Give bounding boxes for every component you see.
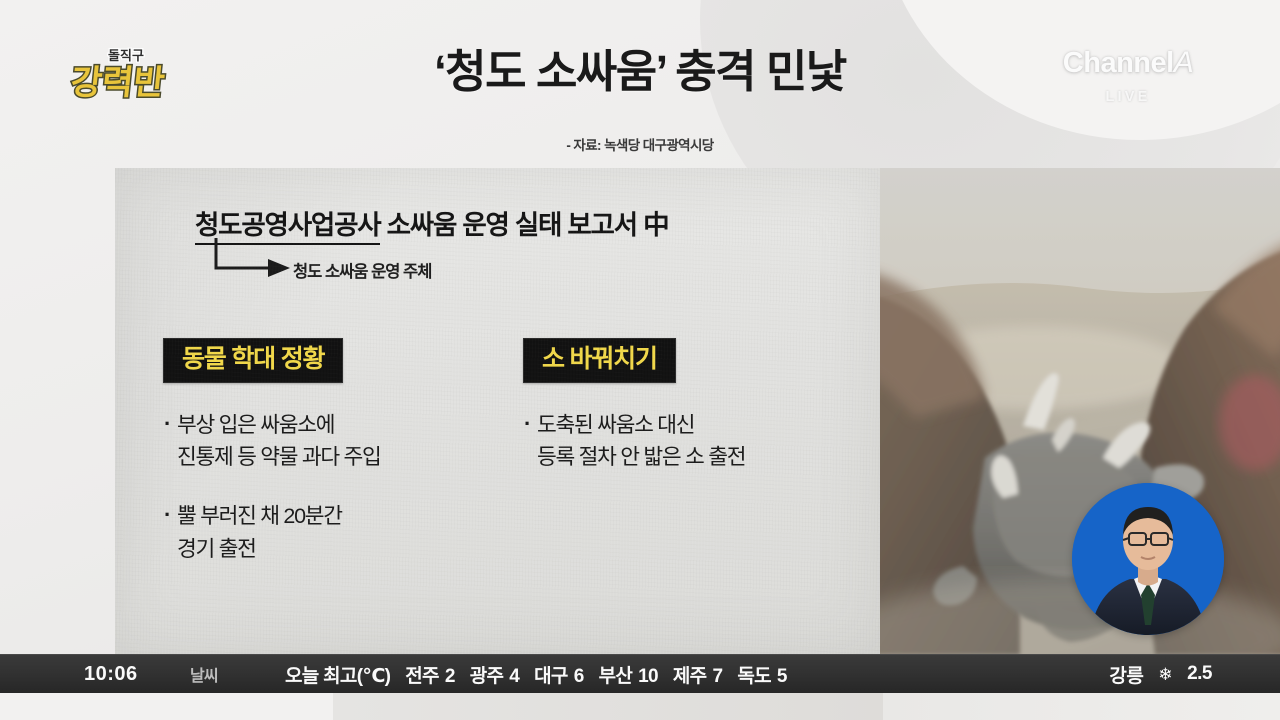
local-weather-widget: 강릉 ❄ 2.5 xyxy=(1109,661,1212,688)
column-heading-tag: 동물 학대 정황 xyxy=(163,338,343,383)
column-animal-abuse: 동물 학대 정황 부상 입은 싸움소에 진통제 등 약물 과다 주입 뿔 부러진… xyxy=(163,338,513,591)
news-ticker: 10:06 날씨 오늘 최고(℃)전주2광주4대구6부산10제주7독도5 강릉 … xyxy=(0,654,1280,693)
clock: 10:06 xyxy=(84,663,138,686)
channel-name-text: Channel xyxy=(1063,47,1174,79)
bullet-list: 부상 입은 싸움소에 진통제 등 약물 과다 주입 뿔 부러진 채 20분간 경… xyxy=(163,409,513,566)
annotation-callout: 청도 소싸움 운영 주체 xyxy=(210,236,540,281)
city-temp: 5 xyxy=(777,666,787,687)
city-temp: 10 xyxy=(638,666,658,687)
annotation-text: 청도 소싸움 운영 주체 xyxy=(293,258,431,282)
city-temp: 2 xyxy=(445,666,455,687)
city-temp: 6 xyxy=(574,666,584,687)
city-name: 제주 xyxy=(673,666,707,687)
report-document-panel: 청도공영사업공사 소싸움 운영 실태 보고서 中 청도 소싸움 운영 주체 동물… xyxy=(115,168,880,655)
ticker-category-label: 날씨 xyxy=(190,662,218,686)
channel-name: ChannelA xyxy=(1018,48,1238,78)
city-name: 전주 xyxy=(405,666,439,687)
city-name: 독도 xyxy=(737,666,771,687)
column-heading-tag: 소 바꿔치기 xyxy=(523,338,676,383)
local-weather-value: 2.5 xyxy=(1187,663,1212,685)
local-city-name: 강릉 xyxy=(1109,661,1143,688)
bullet-list: 도축된 싸움소 대신 등록 절차 안 밟은 소 출전 xyxy=(523,409,873,474)
channel-logo: ChannelA LIVE xyxy=(1018,48,1238,105)
channel-a-mark: A xyxy=(1174,46,1194,79)
city-name: 광주 xyxy=(470,666,504,687)
city-name: 부산 xyxy=(599,666,633,687)
list-item: 부상 입은 싸움소에 진통제 등 약물 과다 주입 xyxy=(163,409,513,474)
broadcast-screen: 돌직구 강력반 ‘청도 소싸움’ 충격 민낯 - 자료: 녹색당 대구광역시당 … xyxy=(0,0,1280,720)
column-bull-swapping: 소 바꿔치기 도축된 싸움소 대신 등록 절차 안 밟은 소 출전 xyxy=(523,338,873,500)
ticker-underlay xyxy=(0,693,1280,720)
city-name: 대구 xyxy=(534,666,568,687)
city-temp: 7 xyxy=(712,666,722,687)
source-attribution: - 자료: 녹색당 대구광역시당 xyxy=(0,134,1280,154)
weather-headline: 오늘 최고(℃) xyxy=(285,666,390,687)
city-temp: 4 xyxy=(509,666,519,687)
list-item: 도축된 싸움소 대신 등록 절차 안 밟은 소 출전 xyxy=(523,409,873,474)
live-badge: LIVE xyxy=(1018,89,1238,105)
snowflake-icon: ❄ xyxy=(1158,666,1172,683)
weather-ticker-content: 오늘 최고(℃)전주2광주4대구6부산10제주7독도5 xyxy=(285,661,787,688)
anchor-inset xyxy=(1072,483,1224,635)
list-item: 뿔 부러진 채 20분간 경기 출전 xyxy=(163,500,513,565)
